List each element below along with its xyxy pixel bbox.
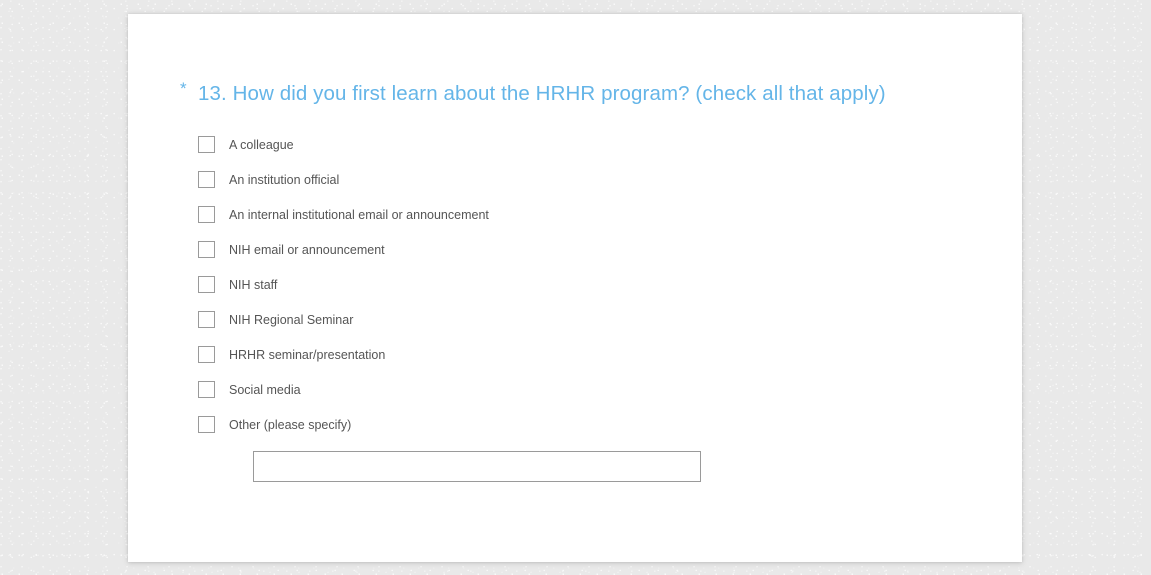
option-row-social-media[interactable]: Social media [198, 372, 978, 407]
option-label-nih-staff: NIH staff [229, 277, 277, 293]
checkbox-internal-institutional-email[interactable] [198, 206, 215, 223]
question-block: * 13. How did you first learn about the … [178, 76, 978, 482]
other-specify-input[interactable] [253, 451, 701, 482]
checkbox-options-list: A colleague An institution official An i… [178, 127, 978, 482]
other-input-wrapper [198, 451, 978, 482]
option-row-an-institution-official[interactable]: An institution official [198, 162, 978, 197]
option-row-nih-staff[interactable]: NIH staff [198, 267, 978, 302]
required-asterisk-icon: * [180, 77, 187, 101]
option-row-internal-institutional-email[interactable]: An internal institutional email or annou… [198, 197, 978, 232]
checkbox-hrhr-seminar-presentation[interactable] [198, 346, 215, 363]
option-row-nih-email-or-announcement[interactable]: NIH email or announcement [198, 232, 978, 267]
question-text: 13. How did you first learn about the HR… [198, 82, 886, 105]
survey-card: * 13. How did you first learn about the … [128, 14, 1022, 562]
option-row-a-colleague[interactable]: A colleague [198, 127, 978, 162]
option-label-nih-regional-seminar: NIH Regional Seminar [229, 312, 353, 328]
option-row-hrhr-seminar-presentation[interactable]: HRHR seminar/presentation [198, 337, 978, 372]
option-label-internal-institutional-email: An internal institutional email or annou… [229, 207, 489, 223]
option-label-nih-email-or-announcement: NIH email or announcement [229, 242, 385, 258]
option-row-other[interactable]: Other (please specify) [198, 407, 978, 442]
option-label-other: Other (please specify) [229, 417, 351, 433]
checkbox-an-institution-official[interactable] [198, 171, 215, 188]
option-label-social-media: Social media [229, 382, 301, 398]
option-label-an-institution-official: An institution official [229, 172, 339, 188]
question-heading: * 13. How did you first learn about the … [178, 76, 938, 112]
checkbox-other[interactable] [198, 416, 215, 433]
checkbox-nih-regional-seminar[interactable] [198, 311, 215, 328]
checkbox-nih-staff[interactable] [198, 276, 215, 293]
checkbox-a-colleague[interactable] [198, 136, 215, 153]
option-label-a-colleague: A colleague [229, 137, 294, 153]
checkbox-nih-email-or-announcement[interactable] [198, 241, 215, 258]
page-background: * 13. How did you first learn about the … [0, 0, 1151, 575]
checkbox-social-media[interactable] [198, 381, 215, 398]
option-label-hrhr-seminar-presentation: HRHR seminar/presentation [229, 347, 385, 363]
option-row-nih-regional-seminar[interactable]: NIH Regional Seminar [198, 302, 978, 337]
